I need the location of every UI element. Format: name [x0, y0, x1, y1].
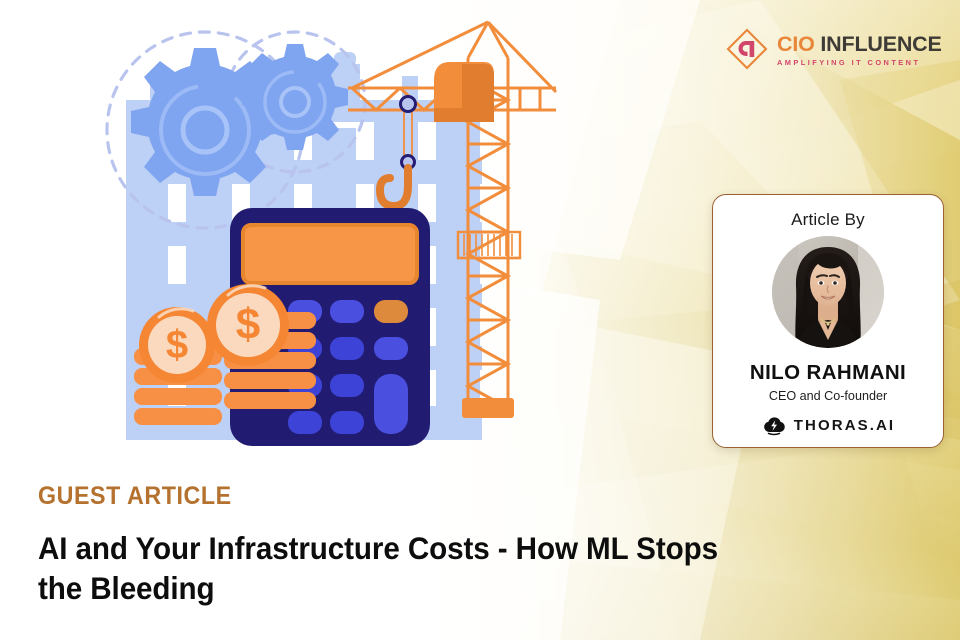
dollar-coin-2: $: [207, 284, 289, 366]
cio-diamond-c-icon: [726, 28, 768, 70]
brand-name-influence: INFLUENCE: [820, 32, 941, 56]
dollar-coin-1: $: [139, 307, 215, 383]
article-by-label: Article By: [791, 210, 865, 230]
ai-infrastructure-cost-illustration: $ $: [0, 0, 620, 470]
cio-influence-wordmark: CIO INFLUENCE AMPLIFYING IT CONTENT: [777, 31, 942, 68]
thoras-cloud-bolt-icon: [761, 412, 787, 438]
guest-article-banner: $ $ CIO INFLUENCE AMPLI: [0, 0, 960, 640]
svg-text:$: $: [166, 323, 188, 367]
avatar: [772, 236, 884, 348]
cio-influence-logo[interactable]: CIO INFLUENCE AMPLIFYING IT CONTENT: [726, 22, 942, 76]
brand-name-cio: CIO: [777, 32, 815, 56]
crane-cab: [434, 62, 494, 122]
author-role: CEO and Co-founder: [769, 389, 887, 403]
author-name: NILO RAHMANI: [750, 361, 906, 385]
company-logo[interactable]: THORAS.AI: [761, 412, 895, 438]
calculator-accent-key: [374, 300, 408, 323]
svg-text:$: $: [236, 300, 260, 349]
kicker-guest-article: GUEST ARTICLE: [38, 482, 745, 511]
company-name: THORAS.AI: [794, 417, 895, 434]
crane-base: [462, 398, 514, 418]
crane-pulley-top: [401, 97, 416, 112]
headline-block: GUEST ARTICLE AI and Your Infrastructure…: [38, 482, 798, 609]
gear-small-icon: [242, 44, 348, 150]
page-title: AI and Your Infrastructure Costs - How M…: [38, 528, 752, 609]
author-card: Article By: [712, 194, 944, 448]
brand-tagline: AMPLIFYING IT CONTENT: [777, 58, 942, 67]
